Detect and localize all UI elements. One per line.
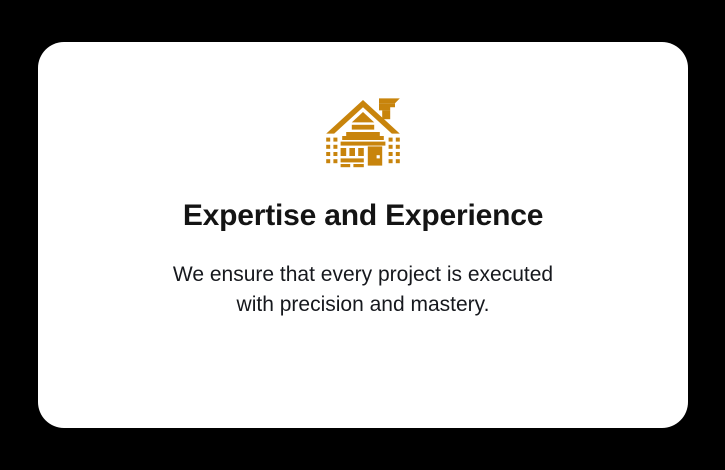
log-cabin-icon	[323, 92, 403, 172]
card-description: We ensure that every project is executed…	[173, 260, 553, 320]
page-background: Expertise and Experience We ensure that …	[0, 0, 725, 470]
feature-card: Expertise and Experience We ensure that …	[38, 42, 688, 428]
card-title: Expertise and Experience	[183, 198, 543, 234]
